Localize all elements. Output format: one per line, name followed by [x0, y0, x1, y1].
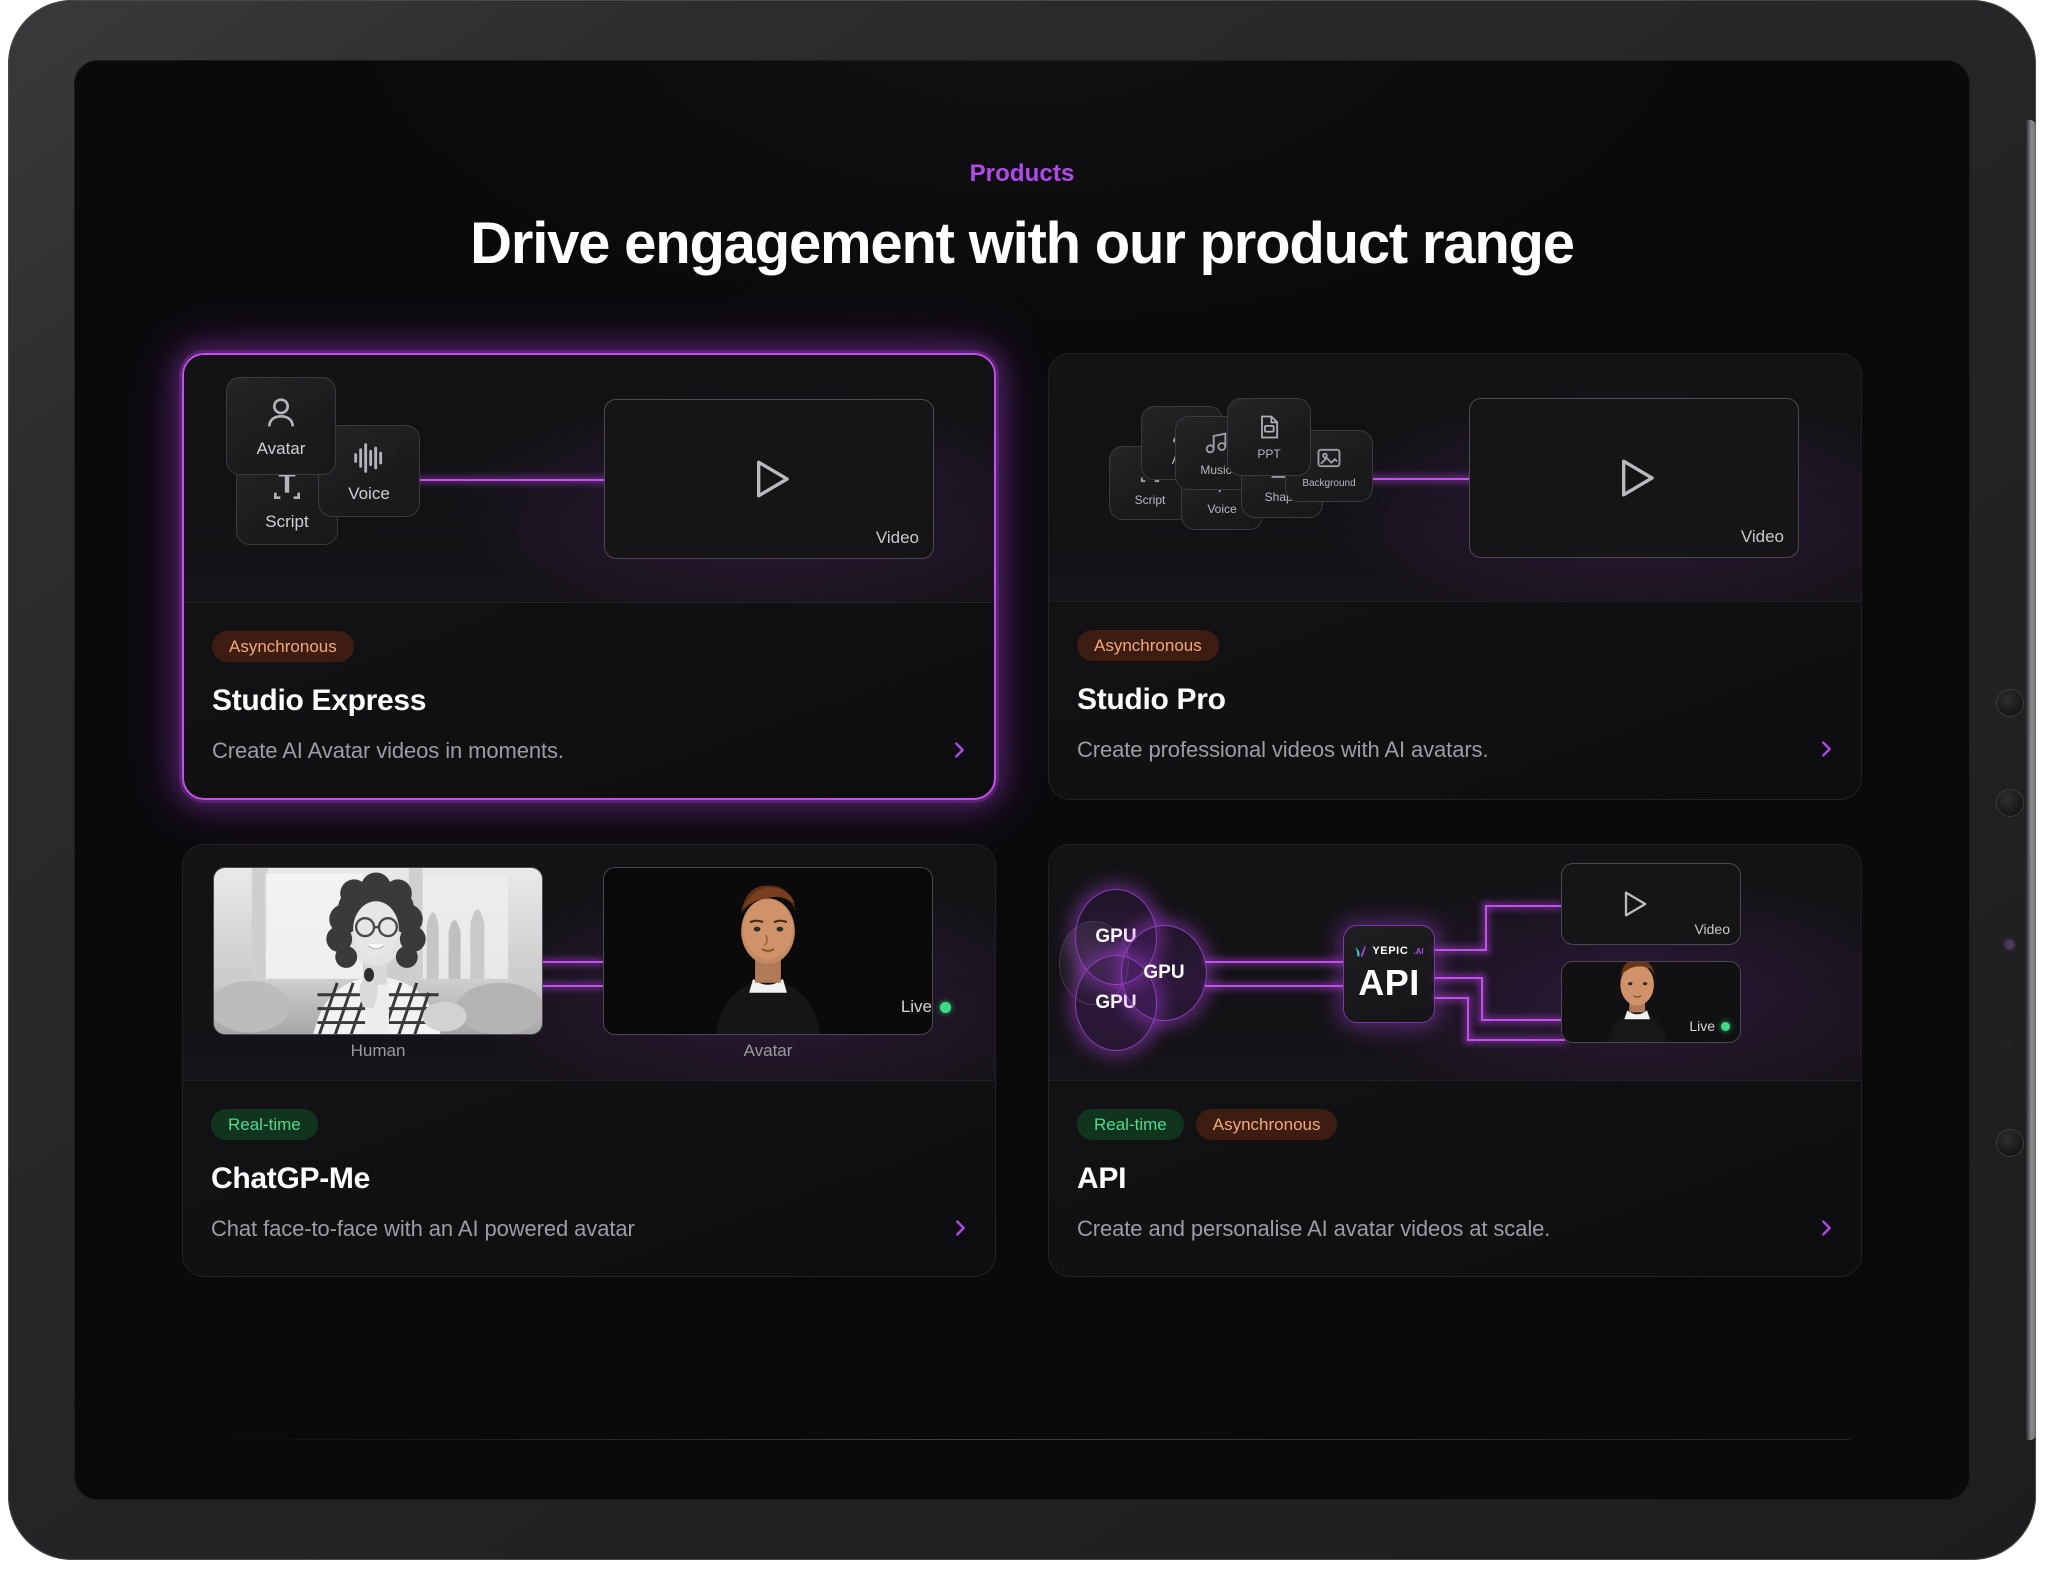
play-icon: [1603, 447, 1665, 509]
card-title: API: [1077, 1162, 1833, 1196]
color-photo-man: [604, 868, 932, 1034]
live-status: Live: [1689, 1018, 1730, 1034]
connector-wire: [1481, 977, 1483, 1021]
device-right-edge: [2026, 120, 2036, 1440]
connector-wire: [1481, 1019, 1565, 1021]
badge-list: Asynchronous: [212, 631, 966, 662]
avatar-video-frame: [603, 867, 933, 1035]
product-card-chatgp-me[interactable]: Human: [182, 844, 996, 1277]
brand-suffix: .AI: [1413, 947, 1423, 956]
card-wrap-studio-express: Script Voice: [182, 353, 996, 800]
badge-list: Real-time Asynchronous: [1077, 1109, 1833, 1140]
tile-label: PPT: [1257, 447, 1280, 461]
tile-label: Avatar: [257, 439, 306, 459]
tile-label: Script: [1135, 493, 1166, 507]
music-note-icon: [1202, 429, 1230, 457]
card-body-api: Real-time Asynchronous API Create and pe…: [1049, 1081, 1861, 1276]
connector-wire: [1467, 997, 1469, 1041]
play-icon: [738, 448, 800, 510]
live-indicator-dot: [940, 1002, 951, 1013]
video-label: Video: [876, 528, 919, 548]
status-badge-asynchronous: Asynchronous: [1077, 630, 1219, 661]
card-wrap-api: GPU GPU GPU: [1048, 844, 1862, 1277]
device-speaker-grille-bottom: [1997, 1130, 2023, 1156]
illustration-api: GPU GPU GPU: [1049, 845, 1861, 1081]
grayscale-photo-woman: [214, 868, 542, 1034]
connector-wire: [1205, 961, 1345, 963]
device-indicator-light: [2005, 940, 2014, 949]
chevron-right-icon[interactable]: [949, 1217, 971, 1244]
badge-list: Real-time: [211, 1109, 967, 1140]
connector-wire: [1205, 985, 1345, 987]
human-video-frame: [213, 867, 543, 1035]
tile-label: Voice: [1207, 502, 1236, 516]
card-title: ChatGP-Me: [211, 1162, 967, 1196]
person-icon: [261, 393, 301, 433]
card-body-studio-pro: Asynchronous Studio Pro Create professio…: [1049, 602, 1861, 797]
tile-label: Background: [1302, 478, 1355, 489]
illustration-studio-pro: Script Ava: [1049, 354, 1861, 602]
products-page: Products Drive engagement with our produ…: [74, 60, 1970, 1500]
video-output-panel: Video: [604, 399, 934, 559]
tablet-device-frame: Products Drive engagement with our produ…: [8, 0, 2036, 1560]
yepic-logo: YEPIC .AI: [1354, 945, 1423, 958]
gpu-label: GPU: [1143, 962, 1184, 984]
connector-wire: [1485, 905, 1561, 907]
api-output-video: Video: [1561, 863, 1741, 945]
status-badge-real-time: Real-time: [211, 1109, 318, 1140]
connector-wire: [1435, 977, 1483, 979]
chevron-right-icon[interactable]: [1815, 738, 1837, 765]
card-description: Create AI Avatar videos in moments.: [212, 738, 966, 764]
tile-label: Script: [265, 512, 308, 532]
connector-wire: [1435, 949, 1487, 951]
card-body-studio-express: Asynchronous Studio Express Create AI Av…: [184, 603, 994, 798]
live-label: Live: [901, 997, 932, 1017]
gpu-node-back: [1059, 921, 1129, 1005]
illustration-studio-express: Script Voice: [184, 355, 994, 603]
product-card-studio-express[interactable]: Script Voice: [182, 353, 996, 800]
play-icon: [1612, 883, 1654, 925]
device-speaker-grille-top: [1997, 690, 2023, 716]
device-speaker-grille-middle: [1997, 790, 2023, 816]
video-label: Video: [1741, 527, 1784, 547]
product-card-studio-pro[interactable]: Script Ava: [1048, 353, 1862, 800]
ppt-file-icon: [1255, 413, 1283, 441]
api-hub-label: API: [1358, 962, 1420, 1004]
badge-list: Asynchronous: [1077, 630, 1833, 661]
avatar-caption: Avatar: [603, 1041, 933, 1061]
connector-wire: [1435, 997, 1469, 999]
product-card-api[interactable]: GPU GPU GPU: [1048, 844, 1862, 1277]
image-icon: [1315, 444, 1343, 472]
status-badge-asynchronous: Asynchronous: [212, 631, 354, 662]
tablet-screen: Products Drive engagement with our produ…: [74, 60, 1970, 1500]
status-badge-asynchronous: Asynchronous: [1196, 1109, 1338, 1140]
card-description: Chat face-to-face with an AI powered ava…: [211, 1216, 967, 1242]
yepic-mark-icon: [1354, 945, 1367, 958]
live-indicator-dot: [1721, 1022, 1730, 1031]
human-caption: Human: [213, 1041, 543, 1061]
card-title: Studio Express: [212, 684, 966, 718]
product-card-grid: Script Voice: [182, 353, 1862, 1277]
chevron-right-icon[interactable]: [948, 739, 970, 766]
card-body-chatgp-me: Real-time ChatGP-Me Chat face-to-face wi…: [183, 1081, 995, 1276]
card-wrap-studio-pro: Script Ava: [1048, 353, 1862, 800]
card-description: Create professional videos with AI avata…: [1077, 737, 1833, 763]
card-title: Studio Pro: [1077, 683, 1833, 717]
illustration-chatgp-me: Human: [183, 845, 995, 1081]
tile-ppt: PPT: [1227, 398, 1311, 476]
card-wrap-chatgp-me: Human: [182, 844, 996, 1277]
brand-name: YEPIC: [1372, 945, 1408, 957]
connector-wire: [1467, 1039, 1565, 1041]
connector-wire: [1485, 905, 1487, 951]
live-label: Live: [1689, 1018, 1715, 1034]
status-badge-real-time: Real-time: [1077, 1109, 1184, 1140]
device-microphone: [2005, 1040, 2014, 1049]
footer-divider: [194, 1439, 1850, 1440]
section-eyebrow: Products: [166, 160, 1878, 188]
api-output-live: Live: [1561, 961, 1741, 1043]
card-description: Create and personalise AI avatar videos …: [1077, 1216, 1833, 1242]
video-label: Video: [1694, 921, 1730, 937]
gpu-node-3: GPU: [1121, 925, 1207, 1021]
video-output-panel: Video: [1469, 398, 1799, 558]
tile-label: Voice: [348, 484, 390, 504]
live-status: Live: [901, 997, 951, 1017]
waveform-icon: [349, 438, 389, 478]
tile-avatar: Avatar: [226, 377, 336, 475]
page-title: Drive engagement with our product range: [166, 210, 1878, 277]
chevron-right-icon[interactable]: [1815, 1217, 1837, 1244]
api-hub-box: YEPIC .AI API: [1343, 925, 1435, 1023]
